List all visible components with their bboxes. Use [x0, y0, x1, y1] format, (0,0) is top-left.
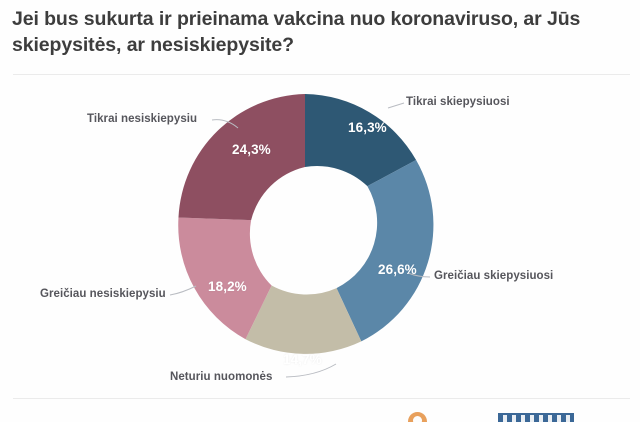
value-label-tikrai-skiepysiuosi: 16,3%	[348, 120, 387, 135]
footer-logos	[0, 399, 640, 422]
leader-line-tikrai-skiepysiuosi	[388, 103, 404, 108]
category-label-greiciau-skiepysiuosi: Greičiau skiepysiuosi	[434, 270, 553, 282]
header-divider	[13, 74, 630, 75]
donut-chart: 16,3% 26,6% 14,7% 18,2% 24,3% Tikrai ski…	[0, 76, 640, 396]
category-label-greiciau-nesiskiepysiu: Greičiau nesiskiepysiu	[40, 288, 166, 300]
title-block: Jei bus sukurta ir prieinama vakcina nuo…	[12, 6, 622, 58]
value-label-neturiu-nuomones: 14,7%	[283, 352, 322, 367]
leader-line-greiciau-nesiskiepysiu	[170, 286, 196, 295]
value-label-tikrai-nesiskiepysiu: 24,3%	[232, 142, 271, 157]
page-title: Jei bus sukurta ir prieinama vakcina nuo…	[12, 6, 622, 58]
category-label-tikrai-nesiskiepysiu: Tikrai nesiskiepysiu	[87, 113, 197, 125]
category-label-tikrai-skiepysiuosi: Tikrai skiepysiuosi	[406, 96, 510, 108]
wordmark-logo-icon	[498, 413, 574, 422]
slice-tikrai-nesiskiepysiu[interactable]	[178, 94, 305, 220]
donut-slices	[178, 94, 433, 354]
slice-greiciau-skiepysiuosi[interactable]	[337, 160, 434, 341]
chart-page: Jei bus sukurta ir prieinama vakcina nuo…	[0, 0, 640, 422]
value-label-greiciau-skiepysiuosi: 26,6%	[378, 262, 417, 277]
circle-logo-icon	[408, 412, 427, 422]
category-label-neturiu-nuomones: Neturiu nuomonės	[170, 371, 272, 383]
value-label-greiciau-nesiskiepysiu: 18,2%	[208, 279, 247, 294]
